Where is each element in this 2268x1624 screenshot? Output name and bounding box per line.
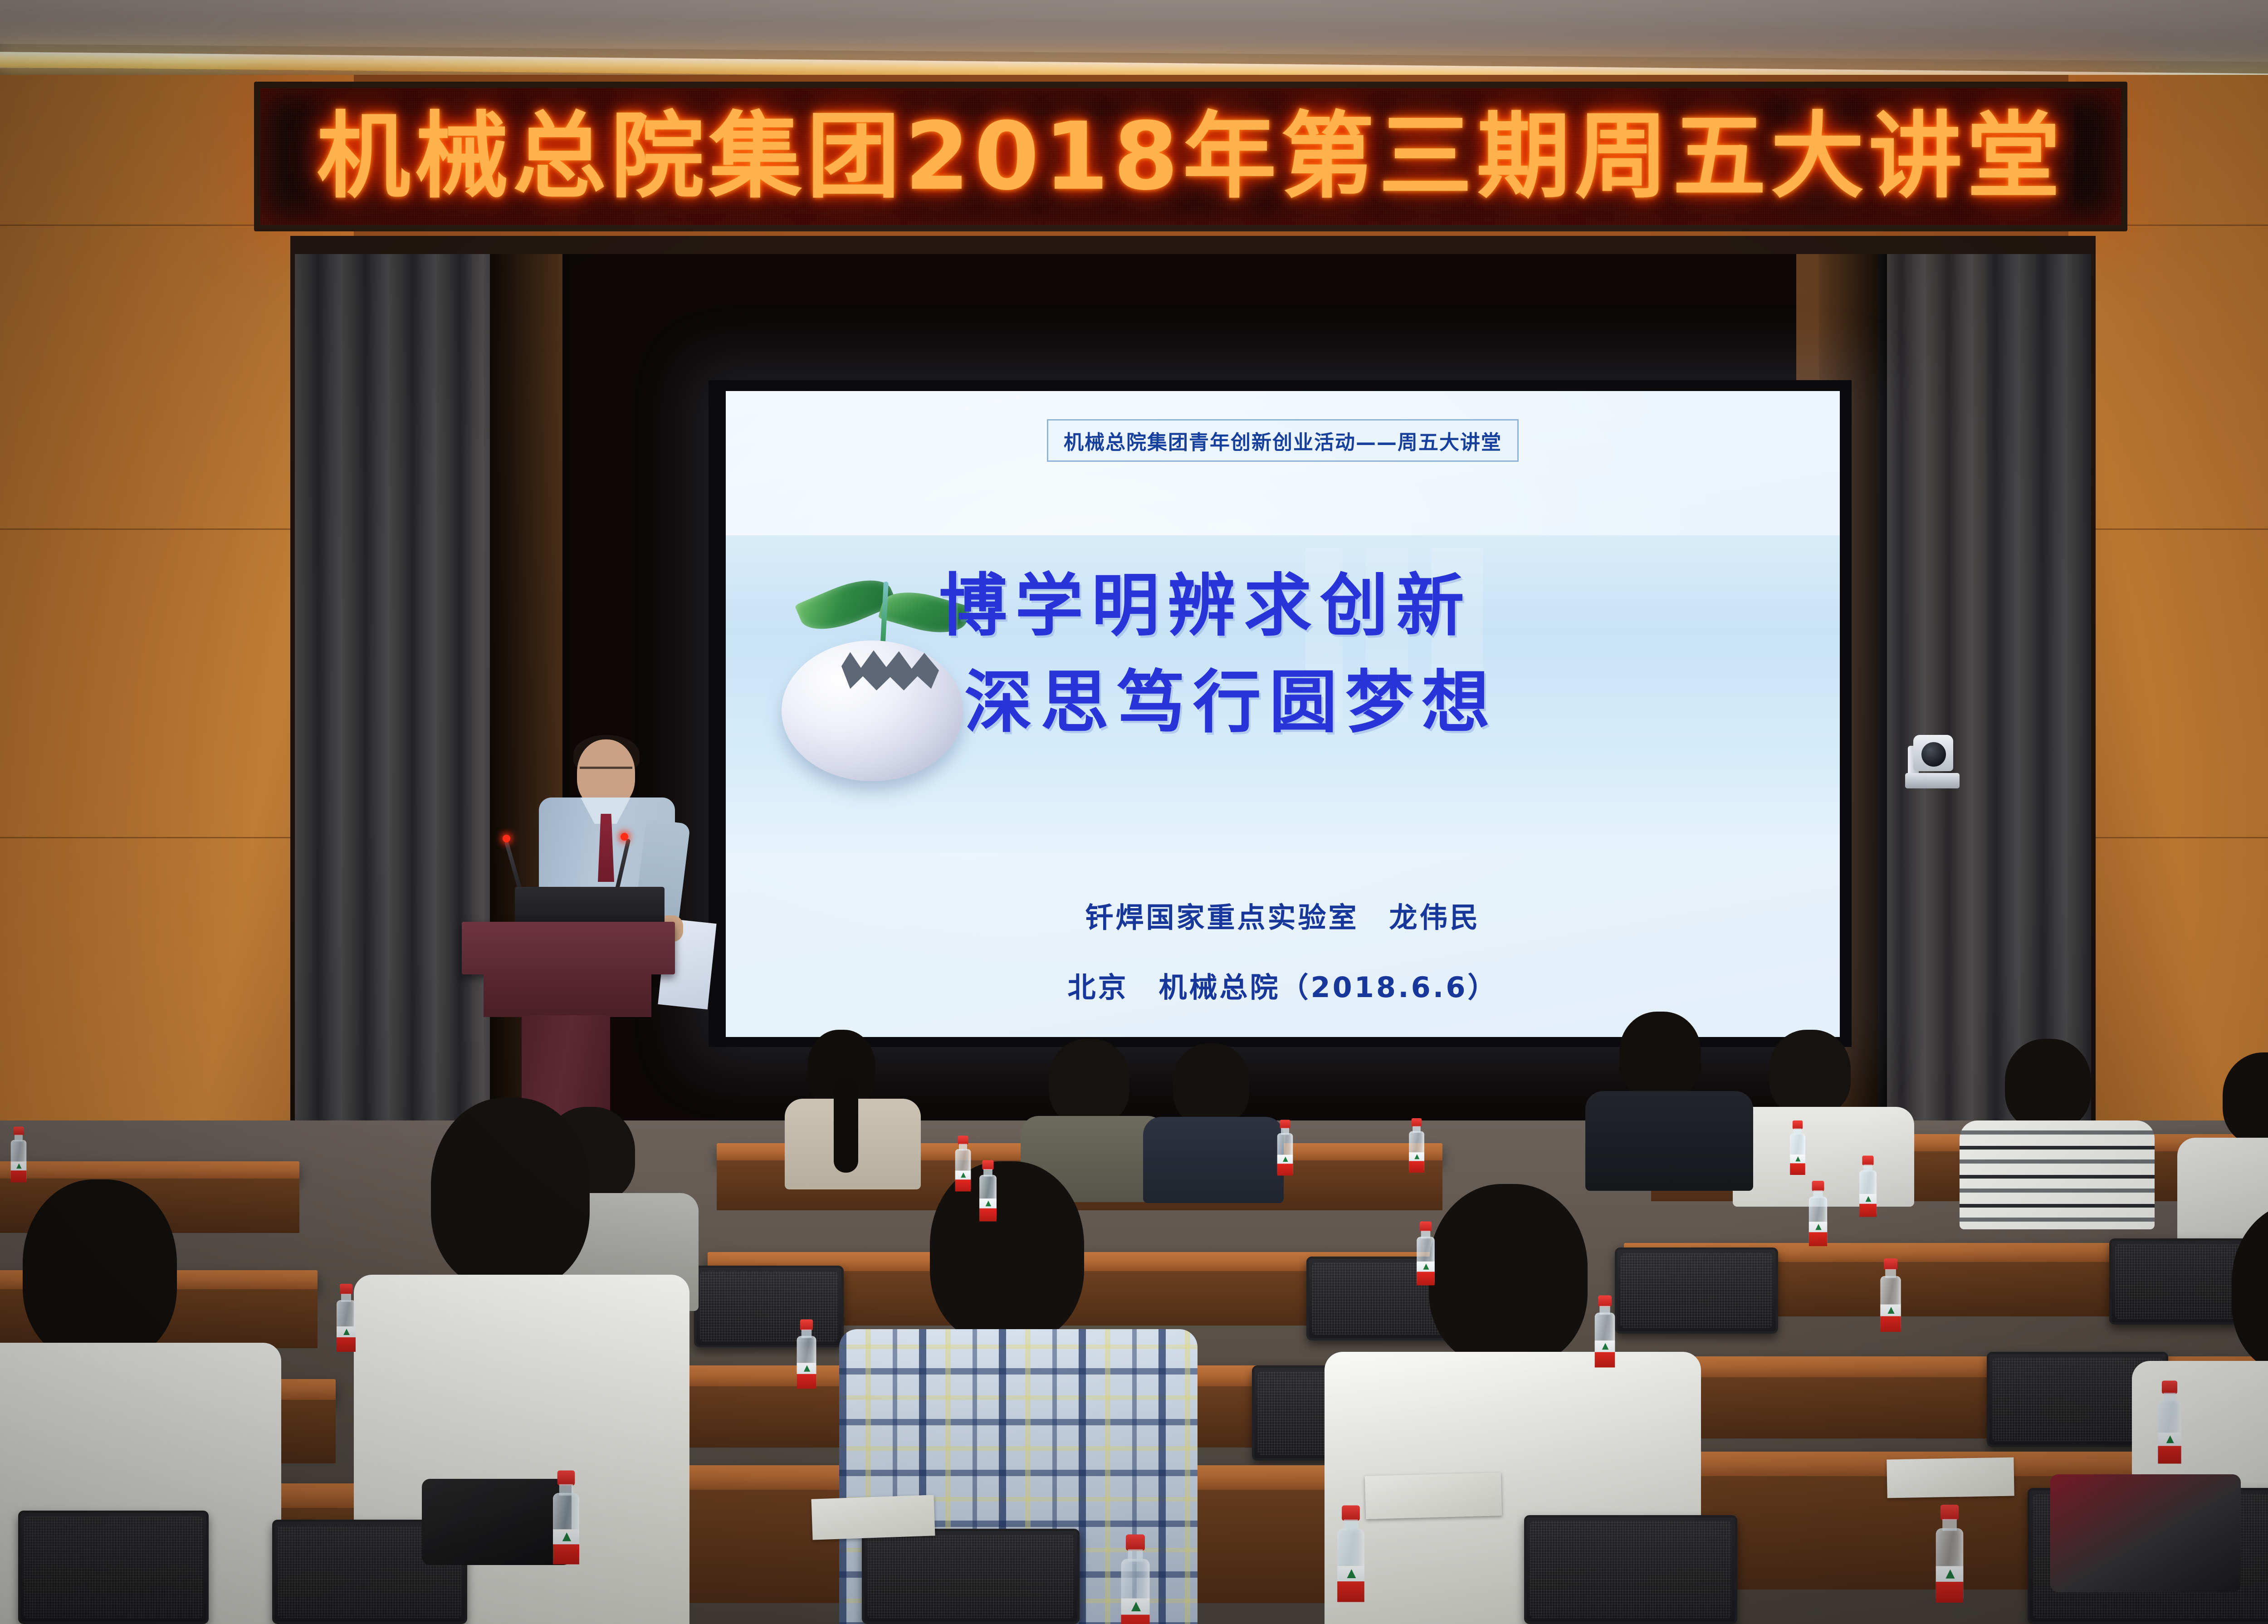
- slide-footer-line-1: 钎焊国家重点实验室 龙伟民: [726, 895, 1840, 935]
- head: [1049, 1039, 1129, 1125]
- bottle-cap: [1862, 1156, 1873, 1166]
- water-bottle[interactable]: [2157, 1381, 2182, 1464]
- head: [930, 1161, 1084, 1343]
- water-bottle[interactable]: [552, 1471, 580, 1565]
- mountain-logo-icon: [1815, 1224, 1821, 1230]
- water-bottle[interactable]: [978, 1160, 997, 1222]
- bottle-cap: [982, 1160, 993, 1170]
- torso: [1585, 1091, 1753, 1191]
- curtain-left: [295, 254, 490, 1220]
- chair-row3-a[interactable]: [694, 1266, 844, 1347]
- slide-title-line-2: 深思笃行圆梦想: [939, 655, 1801, 751]
- paper-sheet-center: [1365, 1472, 1502, 1519]
- mountain-logo-icon: [1945, 1570, 1955, 1579]
- audience-person-dark-navy: [1143, 1043, 1284, 1179]
- backpack-red-black: [2050, 1474, 2241, 1592]
- bottle-cap: [1793, 1120, 1803, 1129]
- mountain-logo-icon: [1866, 1196, 1872, 1202]
- water-bottle[interactable]: [1879, 1258, 1902, 1332]
- ptz-camera-base: [1905, 773, 1960, 788]
- head: [1429, 1184, 1588, 1365]
- bottle-cap: [1280, 1120, 1290, 1129]
- backpack-black: [422, 1479, 572, 1565]
- led-banner-text: 机械总院集团2018年第三期周五大讲堂: [317, 110, 2064, 203]
- mountain-logo-icon: [1283, 1157, 1288, 1162]
- slide-title-line-1: 博学明辨求创新: [939, 558, 1801, 655]
- water-bottle[interactable]: [1276, 1120, 1294, 1176]
- lecture-hall-photo: 机械总院集团2018年第三期周五大讲堂 机械总院集团青年创新创业活动——周五大讲…: [0, 0, 2268, 1624]
- audience-person-glasses-white: [1737, 1030, 1910, 1193]
- mountain-logo-icon: [1347, 1569, 1356, 1578]
- bottle-cap: [2162, 1381, 2177, 1394]
- led-banner: 机械总院集团2018年第三期周五大讲堂: [254, 82, 2127, 231]
- chair-front-d[interactable]: [1524, 1515, 1737, 1624]
- bottle-cap: [1420, 1222, 1432, 1232]
- head: [2005, 1039, 2091, 1130]
- paper-sheet-left: [811, 1495, 935, 1540]
- head: [2223, 1052, 2268, 1145]
- bottle-cap: [1598, 1296, 1612, 1307]
- mountain-logo-icon: [1414, 1154, 1419, 1159]
- bottle-cap: [958, 1136, 968, 1145]
- bottle-cap: [800, 1320, 813, 1331]
- water-bottle[interactable]: [1789, 1120, 1806, 1175]
- audience-person-striped-polo: [1960, 1039, 2150, 1220]
- audience-person-black-tee: [1588, 1012, 1751, 1175]
- podium-top: [462, 922, 675, 974]
- camera-lens-icon: [1921, 742, 1946, 767]
- projection-screen: 机械总院集团青年创新创业活动——周五大讲堂 博学明辨求创新 深思笃行圆梦想 钎焊…: [726, 391, 1840, 1037]
- mountain-logo-icon: [562, 1532, 571, 1541]
- head: [1173, 1043, 1249, 1126]
- water-bottle[interactable]: [10, 1127, 27, 1183]
- water-bottle[interactable]: [1858, 1156, 1877, 1217]
- head: [23, 1179, 177, 1361]
- microphone-led-right: [621, 833, 628, 841]
- mountain-logo-icon: [343, 1329, 350, 1335]
- bottle-cap: [1412, 1118, 1422, 1127]
- slide-header-box: 机械总院集团青年创新创业活动——周五大讲堂: [1047, 419, 1519, 462]
- bottle-cap: [557, 1471, 575, 1486]
- mountain-logo-icon: [804, 1365, 810, 1371]
- water-bottle[interactable]: [1594, 1296, 1616, 1368]
- bottle-cap: [340, 1284, 352, 1295]
- paper-sheet-right: [1887, 1458, 2014, 1498]
- slide-footer-line-2: 北京 机械总院（2018.6.6）: [726, 964, 1840, 1005]
- water-bottle[interactable]: [1408, 1118, 1425, 1173]
- chair-front-c[interactable]: [862, 1529, 1080, 1624]
- slide-header-text: 机械总院集团青年创新创业活动——周五大讲堂: [1064, 431, 1502, 454]
- bottle-cap: [1884, 1258, 1897, 1270]
- mountain-logo-icon: [1602, 1343, 1609, 1350]
- bottle-cap: [1342, 1506, 1360, 1521]
- head: [1619, 1012, 1701, 1099]
- water-bottle[interactable]: [1416, 1222, 1435, 1286]
- mountain-logo-icon: [2166, 1435, 2174, 1443]
- head: [431, 1098, 590, 1288]
- ptz-camera: [1905, 735, 1960, 788]
- bottle-cap: [14, 1127, 24, 1136]
- audience-person-ponytail-woman: [780, 1030, 930, 1175]
- water-bottle[interactable]: [336, 1284, 357, 1352]
- head: [2232, 1202, 2268, 1375]
- mountain-logo-icon: [961, 1173, 966, 1178]
- bottle-cap: [1941, 1505, 1959, 1521]
- bottle-cap: [1812, 1181, 1824, 1191]
- chair-front-a[interactable]: [18, 1511, 209, 1624]
- microphone-led-left: [503, 835, 510, 842]
- water-bottle[interactable]: [796, 1320, 817, 1389]
- water-bottle[interactable]: [1120, 1535, 1151, 1624]
- water-bottle[interactable]: [1336, 1506, 1365, 1602]
- bottle-cap: [1126, 1535, 1145, 1551]
- mountain-logo-icon: [1888, 1307, 1895, 1314]
- slide-title: 博学明辨求创新 深思笃行圆梦想: [939, 558, 1801, 751]
- head: [1769, 1030, 1851, 1116]
- water-bottle[interactable]: [954, 1136, 972, 1192]
- mountain-logo-icon: [1795, 1156, 1800, 1161]
- mountain-logo-icon: [1423, 1264, 1429, 1270]
- glasses-icon: [580, 767, 632, 777]
- mountain-logo-icon: [1131, 1602, 1141, 1611]
- torso: [1960, 1120, 2155, 1229]
- desk-row4-left: [0, 1161, 299, 1179]
- slide-footer: 钎焊国家重点实验室 龙伟民 北京 机械总院（2018.6.6）: [726, 895, 1840, 1005]
- water-bottle[interactable]: [1808, 1181, 1828, 1246]
- mountain-logo-icon: [16, 1164, 21, 1169]
- ponytail: [834, 1077, 858, 1173]
- mountain-logo-icon: [986, 1201, 992, 1207]
- water-bottle[interactable]: [1935, 1505, 1965, 1603]
- podium-body: [484, 972, 651, 1017]
